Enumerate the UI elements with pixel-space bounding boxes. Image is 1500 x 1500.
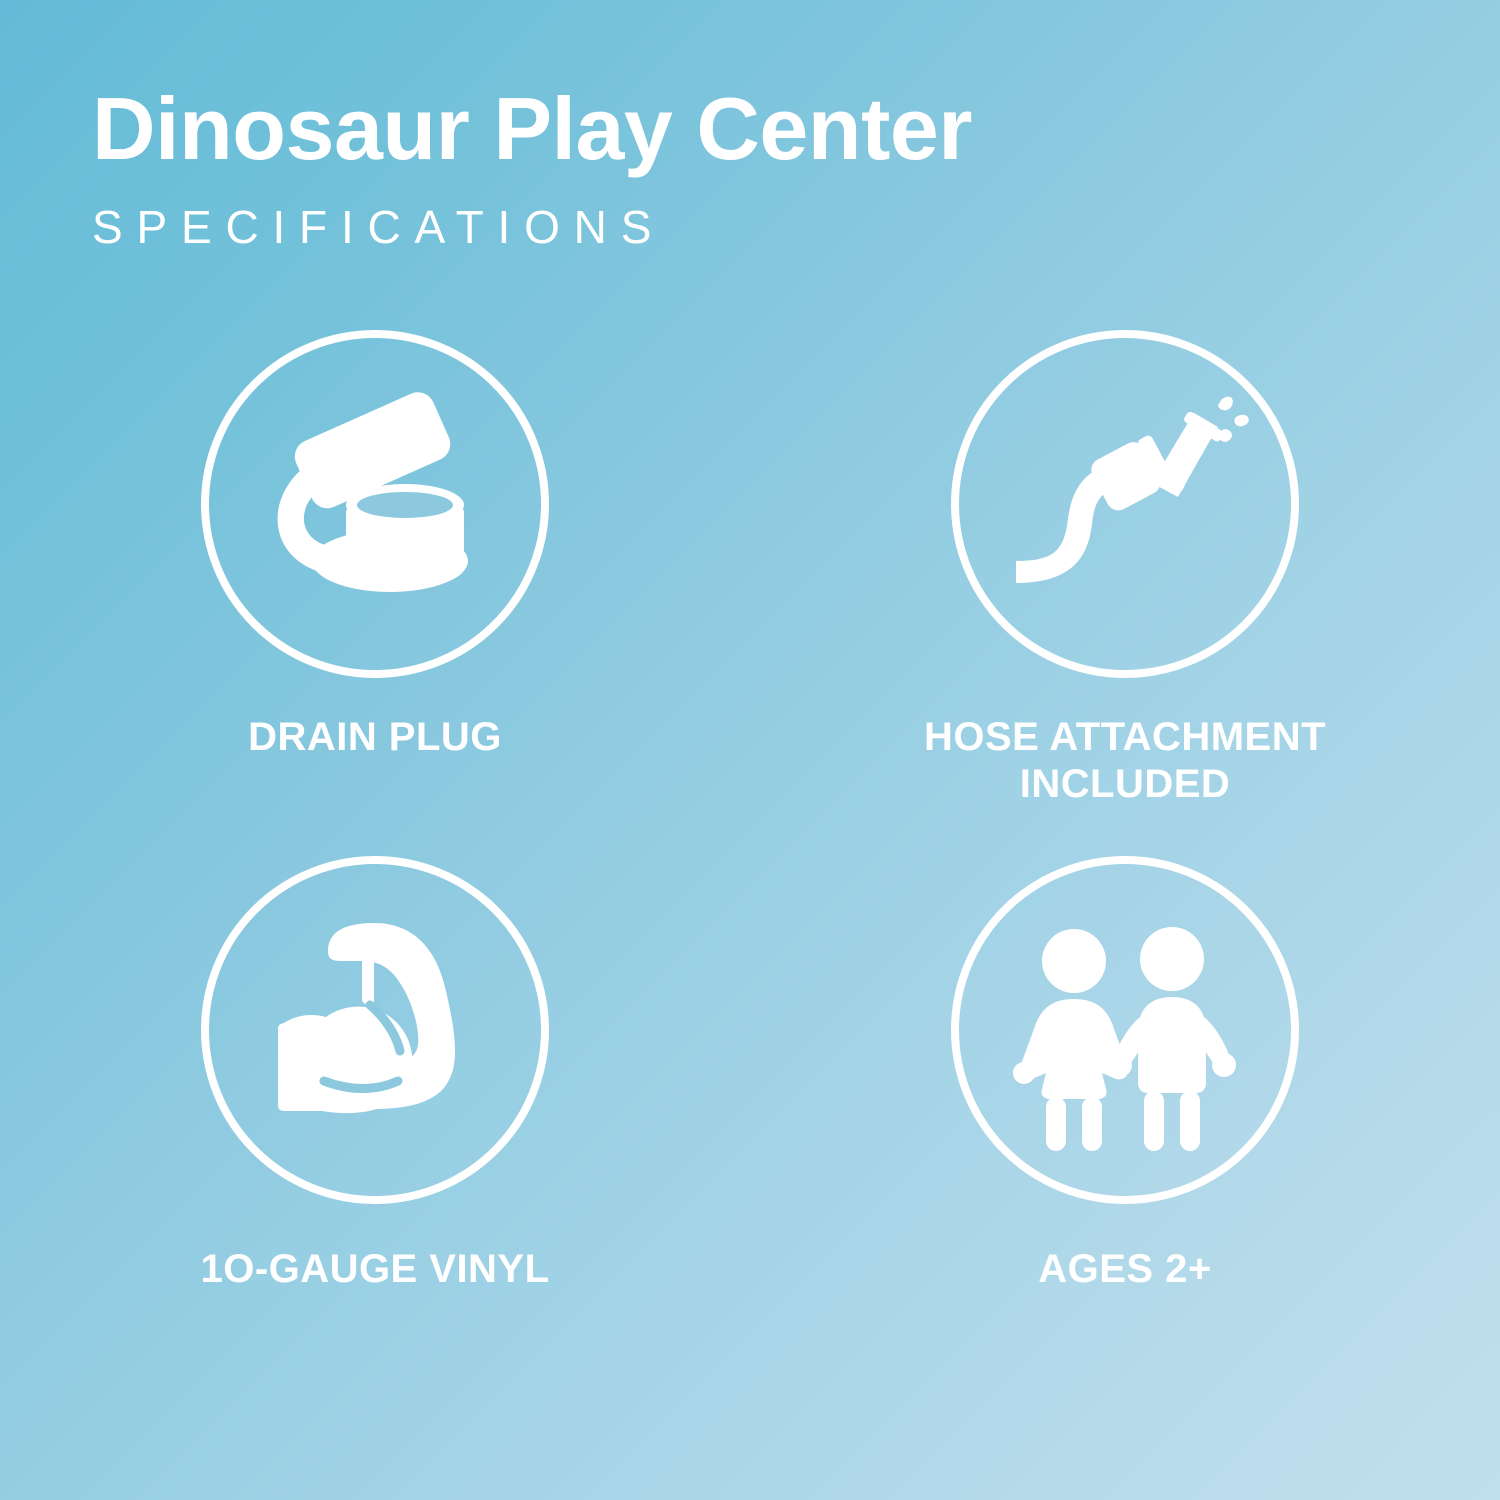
water-droplets — [1218, 397, 1249, 442]
specifications-grid: DRAIN PLUG — [0, 330, 1500, 1294]
spec-icon-circle — [201, 856, 549, 1204]
spec-icon-circle — [201, 330, 549, 678]
spec-item-drain-plug: DRAIN PLUG — [0, 330, 750, 808]
spec-icon-circle — [951, 330, 1299, 678]
spec-item-vinyl-gauge: 1O-GAUGE VINYL — [0, 856, 750, 1293]
flexed-bicep-icon — [250, 905, 500, 1155]
two-children-icon — [1000, 905, 1250, 1155]
spec-label: HOSE ATTACHMENT INCLUDED — [890, 714, 1360, 808]
specifications-page: Dinosaur Play Center SPECIFICATIONS — [0, 0, 1500, 1500]
hose-nozzle-icon — [1000, 379, 1250, 629]
page-header: Dinosaur Play Center SPECIFICATIONS — [92, 84, 1392, 254]
section-subtitle: SPECIFICATIONS — [92, 200, 1392, 254]
spec-label: 1O-GAUGE VINYL — [201, 1246, 550, 1293]
spec-label: AGES 2+ — [1038, 1246, 1211, 1293]
spec-label: DRAIN PLUG — [248, 714, 502, 761]
spec-item-hose-attachment: HOSE ATTACHMENT INCLUDED — [750, 330, 1500, 808]
page-title: Dinosaur Play Center — [92, 84, 1392, 174]
spec-icon-circle — [951, 856, 1299, 1204]
boy-figure — [1108, 927, 1236, 1151]
drain-plug-icon — [250, 379, 500, 629]
girl-figure — [1013, 929, 1128, 1151]
spec-item-age-range: AGES 2+ — [750, 856, 1500, 1293]
